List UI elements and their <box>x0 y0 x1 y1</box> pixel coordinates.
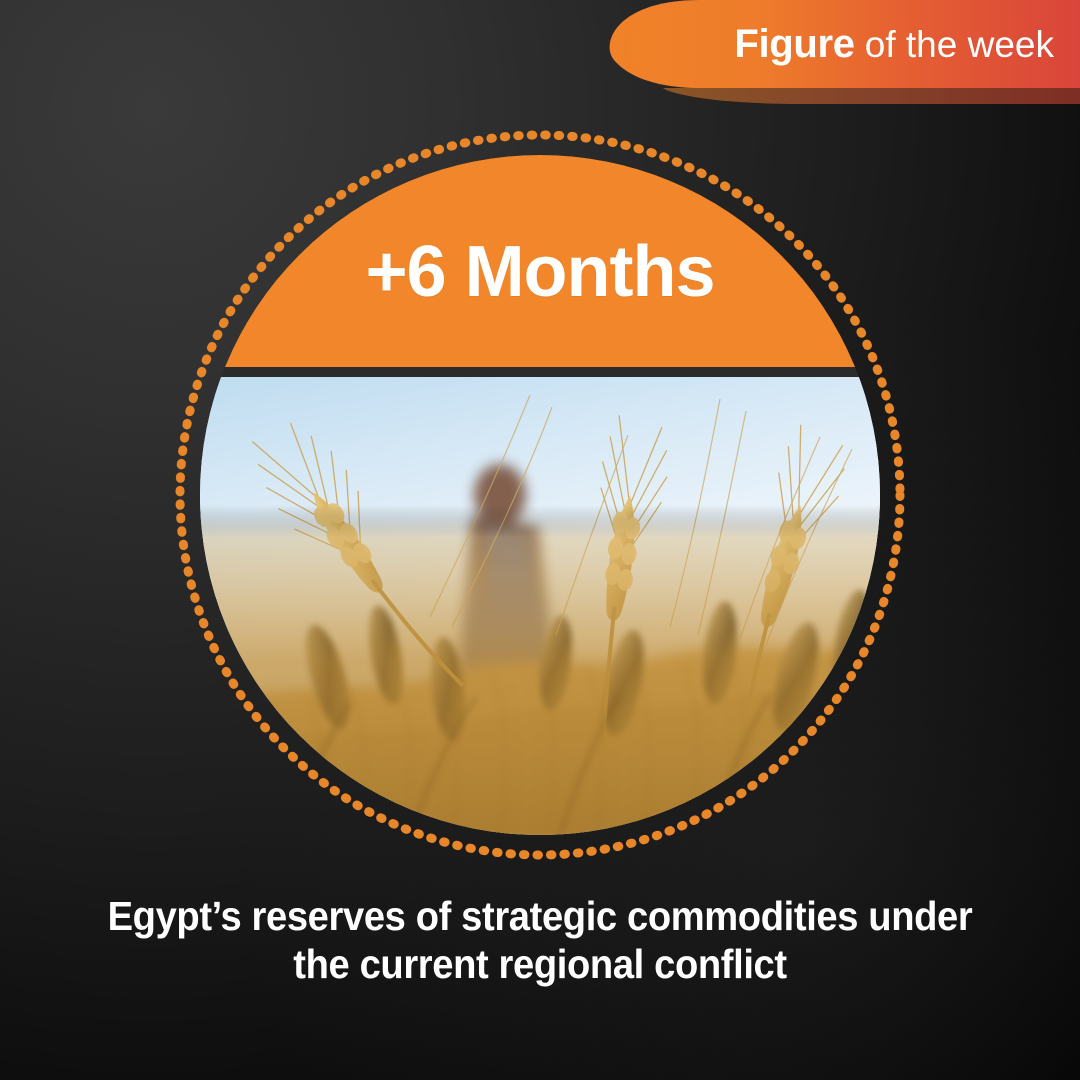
caption-line-1: Egypt’s reserves of strategic commoditie… <box>69 893 1010 941</box>
wheat-photo-art <box>200 377 880 835</box>
dome-photo-divider <box>200 367 880 377</box>
figure-value-label: +6 Months <box>200 155 880 367</box>
infographic-canvas: Figure of the week <box>0 0 1080 1080</box>
banner-title-light: of the week <box>865 26 1054 63</box>
figure-caption: Egypt’s reserves of strategic commoditie… <box>0 893 1080 989</box>
banner-title-strong: Figure <box>734 24 854 64</box>
figure-of-the-week-banner: Figure of the week <box>0 0 1080 120</box>
figure-medallion: +6 Months <box>173 128 907 862</box>
medallion-disc: +6 Months <box>200 155 880 835</box>
banner-title-group: Figure of the week <box>0 0 1080 88</box>
wheat-photo <box>200 377 880 835</box>
caption-line-2: the current regional conflict <box>69 941 1010 989</box>
